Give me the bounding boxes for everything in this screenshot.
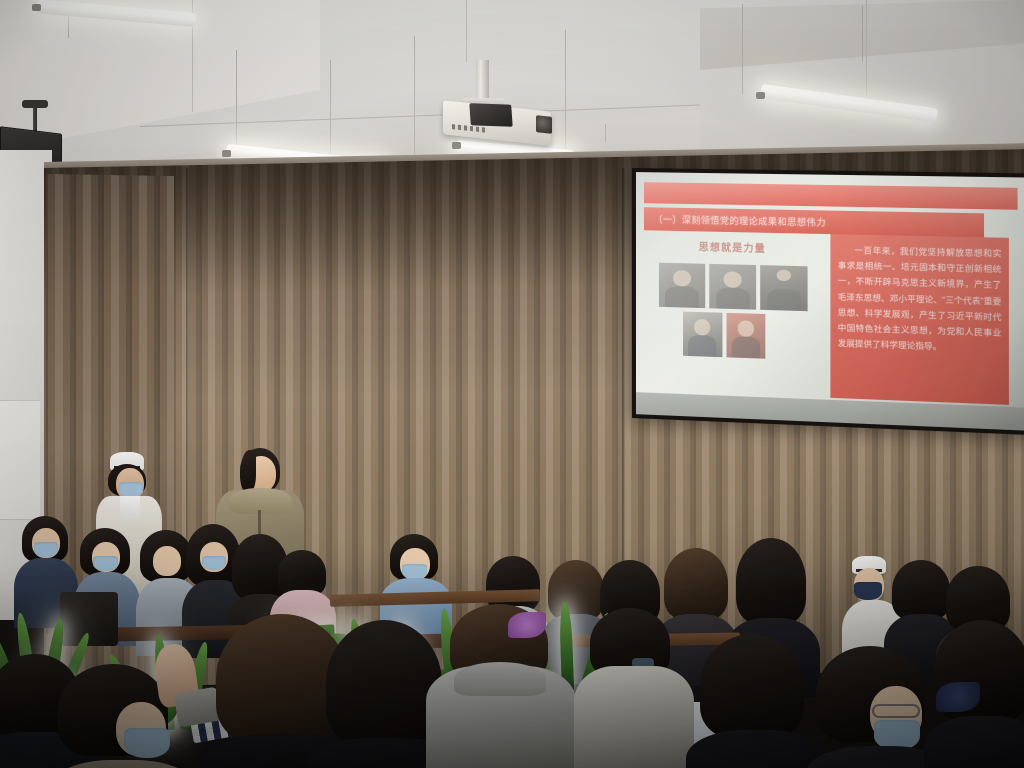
face-mask: [402, 564, 427, 579]
light-drop-wire-5: [565, 30, 566, 150]
ceiling-cable-hook: [605, 124, 606, 142]
slide-top-band: [644, 182, 1018, 210]
slide-heading: 思想就是力量: [663, 238, 803, 256]
head: [153, 546, 181, 576]
projector-mount-clamp: [469, 103, 512, 127]
hair: [326, 620, 442, 746]
face-mask: [34, 542, 58, 557]
light-cap-center-left: [222, 150, 231, 157]
portrait-body: [732, 337, 761, 358]
ceiling-panel-seam-2: [466, 0, 467, 62]
light-cap-left: [32, 4, 41, 11]
face-mask: [93, 556, 118, 571]
portrait-row-1: [659, 262, 811, 311]
purple-hair-bow: [508, 612, 546, 638]
portrait-1: [659, 262, 705, 308]
light-cap-right: [756, 92, 765, 99]
hair: [892, 560, 950, 620]
body: [574, 666, 694, 768]
slide-title-bar: （一）深刻领悟党的理论成果和思想伟力: [644, 207, 985, 237]
left-wall-panel: [0, 400, 40, 520]
portrait-2: [709, 263, 756, 309]
portrait-body: [665, 286, 698, 307]
portrait-face: [694, 318, 710, 335]
face-mask: [854, 582, 882, 600]
eyeglasses-icon: [872, 704, 920, 718]
projection-screen[interactable]: （一）深刻领悟党的理论成果和思想伟力 思想就是力量: [632, 168, 1024, 435]
slide-text-box: 一百年来，我们党坚持解放思想和实事求是相统一、培元固本和守正创新相统一，不断开辟…: [830, 234, 1009, 404]
hair: [664, 548, 728, 620]
light-drop-wire-4: [414, 36, 415, 154]
slide-portrait-grid: [659, 262, 811, 364]
body: [686, 730, 826, 768]
portrait-body: [767, 289, 801, 311]
lecture-hall-photo: （一）深刻领悟党的理论成果和思想伟力 思想就是力量: [0, 0, 1024, 768]
hair: [700, 634, 804, 738]
portrait-face: [673, 270, 692, 287]
portrait-3: [760, 265, 808, 311]
portrait-body: [688, 335, 716, 356]
slide-title: （一）深刻领悟党的理论成果和思想伟力: [654, 212, 827, 229]
light-drop-wire-7: [862, 6, 863, 62]
portrait-body: [716, 288, 750, 309]
projector-lens-icon: [536, 115, 552, 134]
portrait-5: [726, 312, 766, 358]
light-cap-center: [452, 142, 461, 149]
woman-hair-front: [240, 450, 256, 492]
slide-body-text: 一百年来，我们党坚持解放思想和实事求是相统一、培元固本和守正创新相统一，不断开辟…: [838, 243, 1002, 357]
light-drop-wire-6: [742, 4, 743, 94]
portrait-face: [723, 271, 742, 288]
body: [924, 716, 1024, 768]
portrait-face: [738, 320, 754, 337]
light-drop-wire-2: [236, 50, 237, 154]
speaker-mount-plate: [22, 100, 48, 108]
screen-surface: （一）深刻领悟党的理论成果和思想伟力 思想就是力量: [636, 172, 1024, 431]
portrait-row-2: [659, 310, 811, 359]
portrait-4: [683, 311, 722, 357]
nurse-collar: [120, 496, 140, 522]
nurse-face-mask: [119, 482, 143, 497]
portrait-face: [777, 270, 791, 282]
face-mask: [202, 556, 226, 570]
parka-hood: [230, 488, 292, 514]
ceiling-panel-seam-3: [866, 0, 867, 96]
face-mask: [124, 728, 170, 758]
blue-hair-bow: [936, 682, 980, 712]
hair: [736, 538, 806, 624]
hoodie-hood: [454, 662, 546, 696]
